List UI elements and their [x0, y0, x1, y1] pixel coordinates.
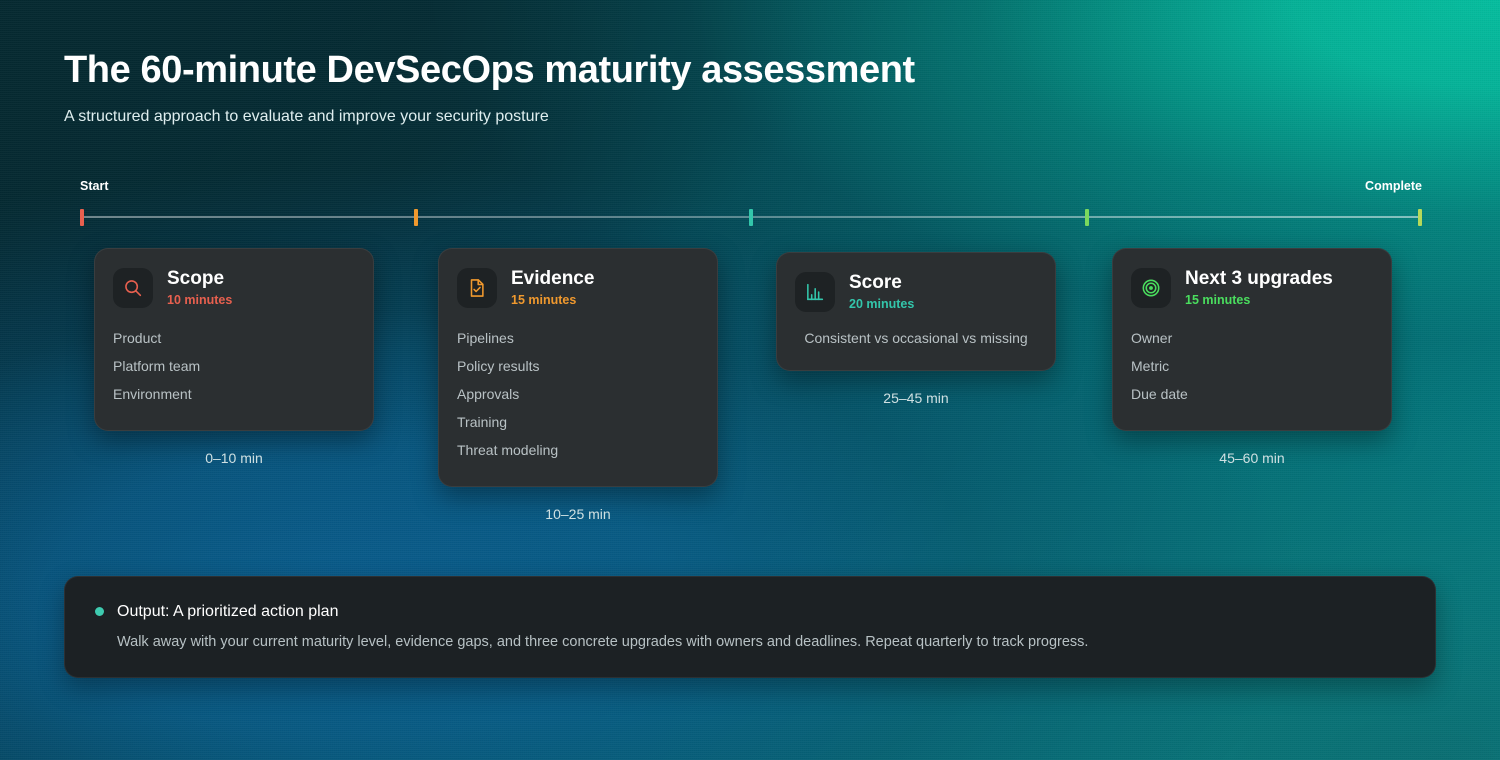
step-header: Scope10 minutes [113, 267, 355, 308]
step-header: Score20 minutes [795, 271, 1037, 312]
timeline-complete-label: Complete [1365, 178, 1422, 194]
tick-25-min [749, 209, 753, 226]
step-note: Consistent vs occasional vs missing [795, 328, 1037, 348]
timeline: Start Complete [80, 178, 1422, 226]
step-time-range: 25–45 min [776, 389, 1056, 407]
tick-start [80, 209, 84, 226]
output-header: Output: A prioritized action plan [95, 601, 1405, 622]
step-card[interactable]: Score20 minutesConsistent vs occasional … [776, 252, 1056, 371]
step-item: Approvals [457, 380, 699, 408]
output-panel: Output: A prioritized action plan Walk a… [64, 576, 1436, 678]
step-item: Product [113, 324, 355, 352]
step-time-range: 45–60 min [1112, 449, 1392, 467]
step-item-list: PipelinesPolicy resultsApprovalsTraining… [457, 324, 699, 464]
tick-complete [1418, 209, 1422, 226]
step-item: Metric [1131, 352, 1373, 380]
steps-row: Scope10 minutesProductPlatform teamEnvir… [0, 248, 1500, 538]
step-time-range: 0–10 min [94, 449, 374, 467]
infographic-page: The 60-minute DevSecOps maturity assessm… [0, 0, 1500, 760]
step-item: Policy results [457, 352, 699, 380]
page-title: The 60-minute DevSecOps maturity assessm… [64, 44, 915, 96]
target-icon [1131, 268, 1171, 308]
step-duration: 15 minutes [1185, 292, 1333, 308]
step-header: Evidence15 minutes [457, 267, 699, 308]
step-titles: Score20 minutes [849, 271, 914, 312]
step-item: Platform team [113, 352, 355, 380]
step-time-range: 10–25 min [438, 505, 718, 523]
document-check-icon [457, 268, 497, 308]
step-item: Owner [1131, 324, 1373, 352]
step-2[interactable]: Evidence15 minutesPipelinesPolicy result… [438, 248, 718, 523]
step-header: Next 3 upgrades15 minutes [1131, 267, 1373, 308]
step-title: Score [849, 271, 914, 294]
magnifier-icon [113, 268, 153, 308]
step-card[interactable]: Evidence15 minutesPipelinesPolicy result… [438, 248, 718, 487]
step-duration: 10 minutes [167, 292, 232, 308]
step-item: Pipelines [457, 324, 699, 352]
tick-10-min [414, 209, 418, 226]
step-1[interactable]: Scope10 minutesProductPlatform teamEnvir… [94, 248, 374, 467]
step-3[interactable]: Score20 minutesConsistent vs occasional … [776, 252, 1056, 407]
step-duration: 15 minutes [511, 292, 594, 308]
tick-45-min [1085, 209, 1089, 226]
step-titles: Next 3 upgrades15 minutes [1185, 267, 1333, 308]
step-title: Evidence [511, 267, 594, 290]
step-card[interactable]: Scope10 minutesProductPlatform teamEnvir… [94, 248, 374, 431]
step-item-list: OwnerMetricDue date [1131, 324, 1373, 408]
step-item-list: ProductPlatform teamEnvironment [113, 324, 355, 408]
step-duration: 20 minutes [849, 296, 914, 312]
bar-chart-icon [795, 272, 835, 312]
step-item: Threat modeling [457, 436, 699, 464]
header: The 60-minute DevSecOps maturity assessm… [64, 44, 915, 128]
status-dot-icon [95, 607, 104, 616]
output-description: Walk away with your current maturity lev… [117, 632, 1405, 652]
step-4[interactable]: Next 3 upgrades15 minutesOwnerMetricDue … [1112, 248, 1392, 467]
step-item: Environment [113, 380, 355, 408]
step-title: Scope [167, 267, 232, 290]
step-item: Training [457, 408, 699, 436]
step-title: Next 3 upgrades [1185, 267, 1333, 290]
step-titles: Scope10 minutes [167, 267, 232, 308]
step-card[interactable]: Next 3 upgrades15 minutesOwnerMetricDue … [1112, 248, 1392, 431]
timeline-start-label: Start [80, 178, 108, 194]
page-subtitle: A structured approach to evaluate and im… [64, 106, 915, 128]
output-title: Output: A prioritized action plan [117, 601, 338, 622]
step-item: Due date [1131, 380, 1373, 408]
step-titles: Evidence15 minutes [511, 267, 594, 308]
